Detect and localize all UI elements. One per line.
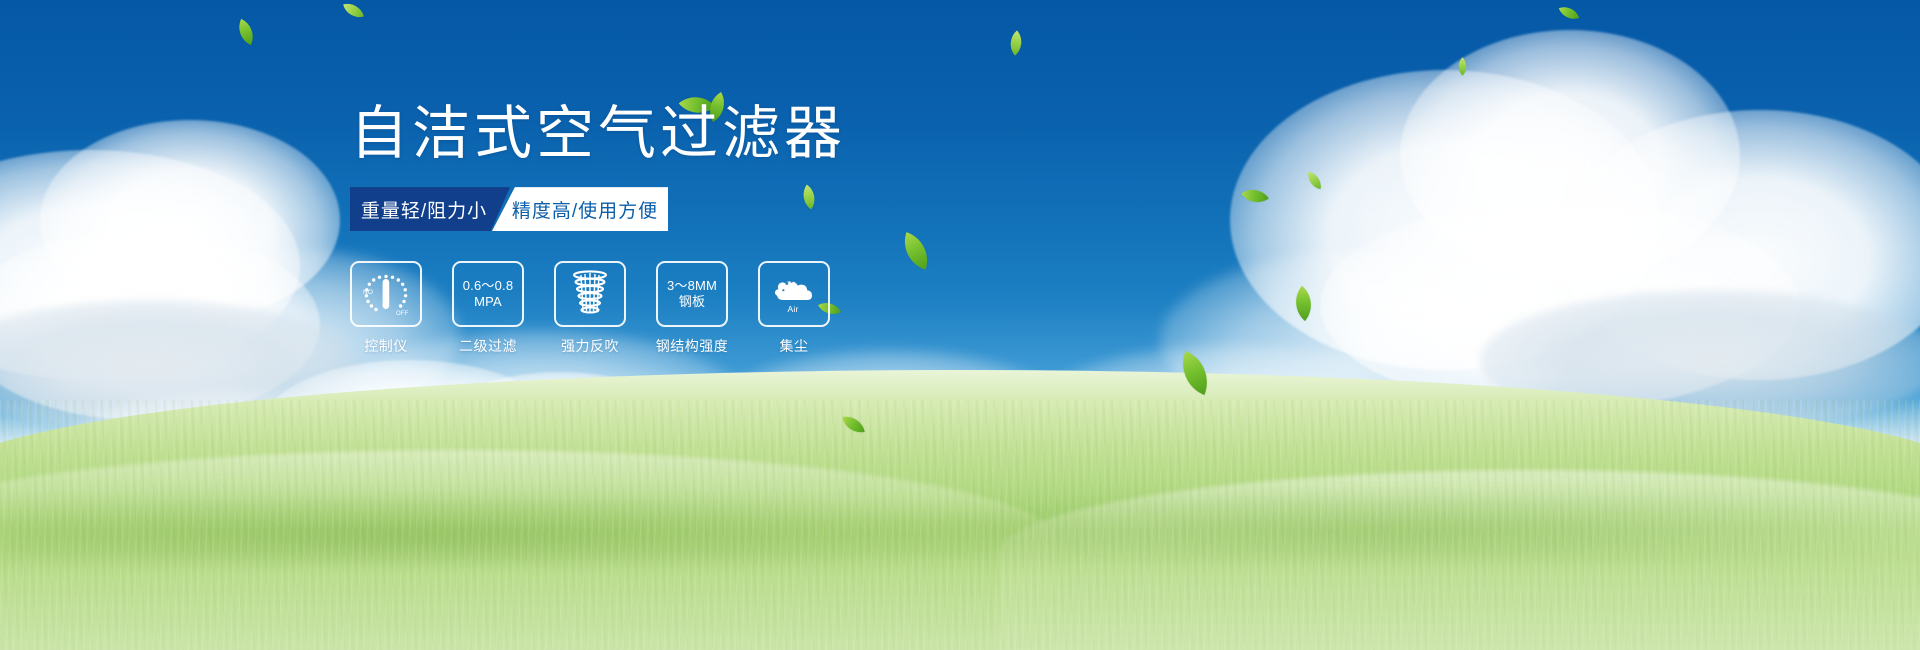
steel-material: 钢板 — [667, 294, 717, 310]
feature-caption-blowback: 强力反吹 — [561, 336, 619, 356]
feature-box-dust: Air — [758, 261, 830, 327]
feature-caption-dust: 集尘 — [780, 336, 809, 356]
filter-cartridge-icon — [565, 268, 615, 320]
pressure-value: 0.6～0.8 — [463, 278, 514, 294]
feature-caption-steel: 钢结构强度 — [656, 336, 729, 356]
banner-content: 自洁式空气过滤器 重量轻/阻力小 精度高/使用方便 — [350, 104, 1050, 356]
feature-tag-group: 重量轻/阻力小 精度高/使用方便 — [350, 187, 672, 231]
feature-caption-control: 控制仪 — [364, 336, 408, 356]
feature-item-pressure: 0.6～0.8 MPA 二级过滤 — [452, 261, 524, 356]
tag-secondary-label: 精度高/使用方便 — [512, 196, 658, 223]
feature-item-steel: 3～8MM 钢板 钢结构强度 — [656, 261, 728, 356]
feature-item-dust: Air 集尘 — [758, 261, 830, 356]
dial-label-on: NO — [363, 289, 373, 296]
grass-bottom-fade — [0, 530, 1920, 650]
feature-box-control: NO OFF — [350, 261, 422, 327]
dial-switch-icon: NO OFF — [358, 268, 414, 320]
feature-item-control: NO OFF 控制仪 — [350, 261, 422, 356]
leaf-11 — [1306, 172, 1323, 189]
page-title: 自洁式空气过滤器 — [350, 104, 1050, 163]
product-hero-banner: 自洁式空气过滤器 重量轻/阻力小 精度高/使用方便 — [0, 0, 1920, 650]
feature-box-pressure: 0.6～0.8 MPA — [452, 261, 524, 327]
tag-secondary: 精度高/使用方便 — [492, 187, 668, 231]
feature-icon-row: NO OFF 控制仪 0.6～0.8 MPA 二级过滤 — [350, 261, 1050, 356]
feature-box-blowback — [554, 261, 626, 327]
dial-label-off: OFF — [396, 311, 409, 317]
air-label: Air — [788, 304, 799, 314]
tag-primary-label: 重量轻/阻力小 — [361, 196, 487, 223]
leaf-15 — [842, 413, 865, 436]
feature-box-steel: 3～8MM 钢板 — [656, 261, 728, 327]
feature-caption-pressure: 二级过滤 — [459, 336, 517, 356]
feature-item-blowback: 强力反吹 — [554, 261, 626, 356]
pressure-unit: MPA — [463, 294, 514, 310]
steel-thickness: 3～8MM — [667, 278, 717, 294]
tag-primary: 重量轻/阻力小 — [350, 187, 510, 231]
air-cloud-icon: Air — [766, 270, 822, 318]
